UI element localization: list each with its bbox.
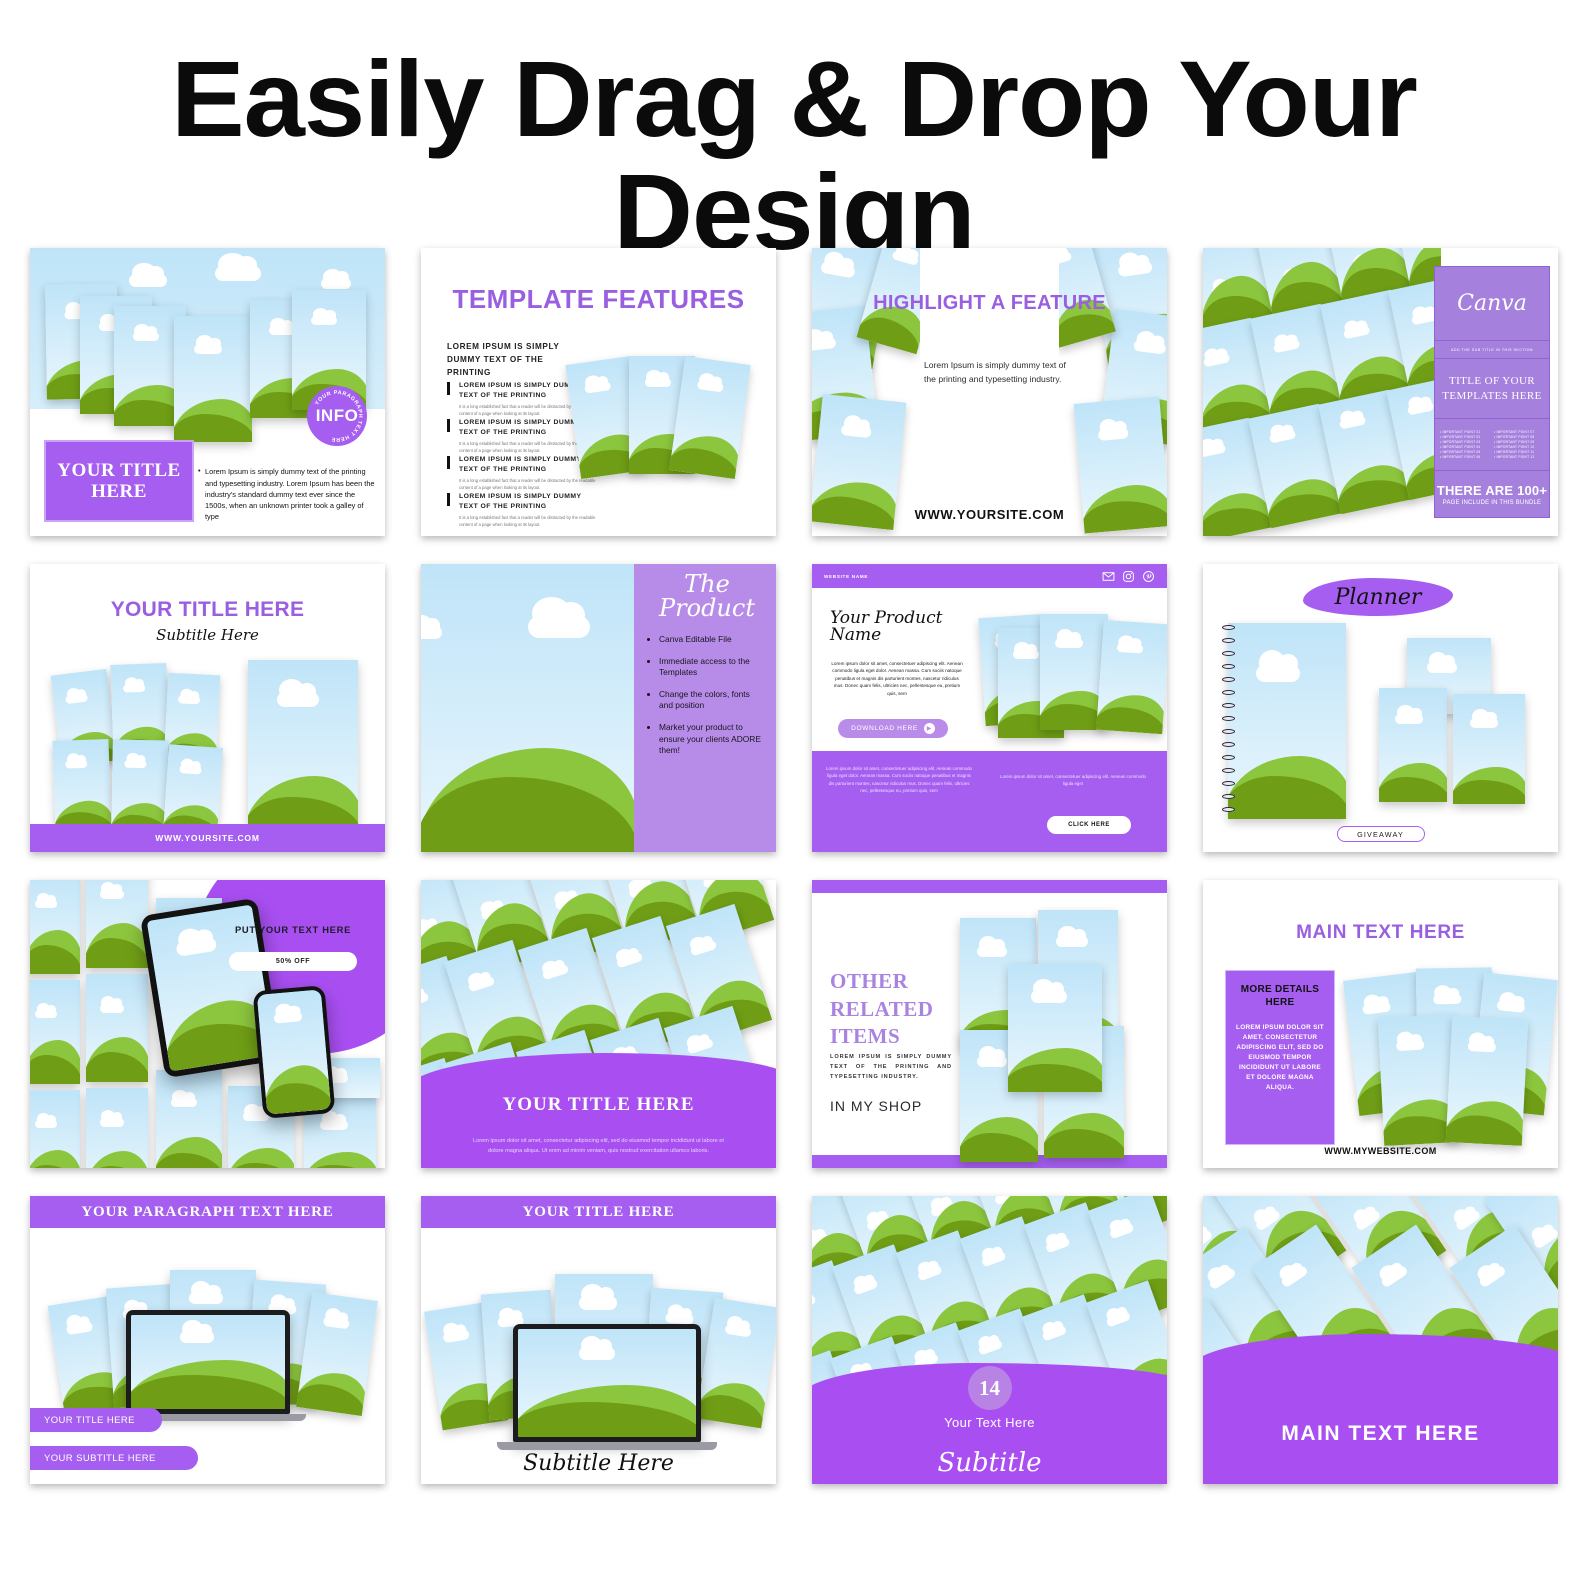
details-body: LOREM IPSUM DOLOR SIT AMET, CONSECTETUR … bbox=[1234, 1023, 1326, 1092]
footer-left-text: Lorem ipsum dolor sit amet, consectetuer… bbox=[826, 765, 972, 795]
details-title: MORE DETAILS HERE bbox=[1234, 983, 1326, 1009]
product-bullets: Canva Editable File Immediate access to … bbox=[648, 634, 766, 756]
planner-heading: Planner bbox=[1303, 578, 1453, 616]
point-item: IMPORTANT POINT 07 bbox=[1494, 430, 1544, 434]
cloud-icon bbox=[129, 274, 167, 287]
card-subtitle: Subtitle bbox=[812, 1448, 1167, 1478]
feature-title: LOREM IPSUM IS SIMPLY DUMMY TEXT OF THE … bbox=[459, 455, 597, 475]
point-item: IMPORTANT POINT 06 bbox=[1440, 455, 1490, 459]
bullet-bar-icon bbox=[447, 419, 450, 432]
points-list: IMPORTANT POINT 01 IMPORTANT POINT 07 IM… bbox=[1435, 419, 1549, 471]
point-item: IMPORTANT POINT 01 bbox=[1440, 430, 1490, 434]
giveaway-label: GIVEAWAY bbox=[1357, 830, 1404, 839]
cloud-icon bbox=[215, 266, 261, 281]
highlight-heading: HIGHLIGHT A FEATURE bbox=[812, 292, 1167, 316]
title-pill-label: YOUR TITLE HERE bbox=[44, 1415, 135, 1426]
footer-right-text: Lorem ipsum dolor sit amet, consectetuer… bbox=[999, 773, 1147, 788]
card-main-text-wave[interactable]: MAIN TEXT HERE bbox=[1203, 1196, 1558, 1484]
card-title: YOUR TITLE HERE bbox=[421, 1094, 776, 1116]
bullet-item: Change the colors, fonts and position bbox=[659, 689, 766, 711]
subtitle-block: ADD THE SUB TITLE IN THIS SECTION bbox=[1435, 341, 1549, 359]
header-label: YOUR TITLE HERE bbox=[523, 1204, 675, 1221]
count-badge: 14 bbox=[968, 1366, 1012, 1410]
features-heading: TEMPLATE FEATURES bbox=[421, 284, 776, 315]
card-planner[interactable]: Planner GIVEAWAY bbox=[1203, 564, 1558, 852]
card-subtitle: Subtitle Here bbox=[30, 626, 385, 644]
product-heading: The Product bbox=[648, 572, 766, 620]
point-item: IMPORTANT POINT 10 bbox=[1494, 445, 1544, 449]
count-label: 14 bbox=[979, 1376, 1000, 1401]
subtitle-pill-label: YOUR SUBTITLE HERE bbox=[44, 1453, 156, 1464]
card-the-product[interactable]: The Product Canva Editable File Immediat… bbox=[421, 564, 776, 852]
offer-label: 50% OFF bbox=[276, 958, 310, 965]
feature-title: LOREM IPSUM IS SIMPLY DUMMY TEXT OF THE … bbox=[459, 492, 597, 512]
offer-pill[interactable]: 50% OFF bbox=[229, 952, 357, 971]
instagram-icon[interactable] bbox=[1122, 570, 1135, 583]
card-main-text-details[interactable]: MAIN TEXT HERE MORE DETAILS HERE LOREM I… bbox=[1203, 880, 1558, 1168]
your-text-label: Your Text Here bbox=[812, 1415, 1167, 1430]
card-template-features[interactable]: TEMPLATE FEATURES LOREM IPSUM IS SIMPLY … bbox=[421, 248, 776, 536]
header-bar: YOUR PARAGRAPH TEXT HERE bbox=[30, 1196, 385, 1228]
laptop-mockup bbox=[513, 1324, 701, 1442]
info-badge[interactable]: YOUR PARAGRAPH TEXT HERE INFO bbox=[307, 386, 367, 446]
website-label: WWW.YOURSITE.COM bbox=[812, 507, 1167, 522]
click-here-label: CLICK HERE bbox=[1068, 822, 1110, 828]
badge-ring-text: YOUR PARAGRAPH TEXT HERE bbox=[307, 386, 367, 446]
phone-mockup bbox=[253, 985, 336, 1119]
brand-label: Canva bbox=[1457, 291, 1527, 316]
website-label: WWW.MYWEBSITE.COM bbox=[1203, 1146, 1558, 1156]
page-title: Easily Drag & Drop Your Design bbox=[0, 42, 1588, 269]
card-highlight-feature[interactable]: HIGHLIGHT A FEATURE Lorem Ipsum is simpl… bbox=[812, 248, 1167, 536]
point-item: IMPORTANT POINT 05 bbox=[1440, 450, 1490, 454]
title-label: TITLE OF YOUR TEMPLATES HERE bbox=[1435, 374, 1549, 403]
card-devices[interactable]: PUT YOUR TEXT HERE 50% OFF bbox=[30, 880, 385, 1168]
point-item: IMPORTANT POINT 08 bbox=[1494, 435, 1544, 439]
svg-text:YOUR PARAGRAPH TEXT HERE: YOUR PARAGRAPH TEXT HERE bbox=[314, 390, 363, 442]
card-title-info[interactable]: YOUR PARAGRAPH TEXT HERE INFO YOUR TITLE… bbox=[30, 248, 385, 536]
cloud-icon bbox=[421, 626, 442, 639]
header-bar: YOUR TITLE HERE bbox=[421, 1196, 776, 1228]
cloud-icon bbox=[321, 278, 351, 289]
card-laptop-title[interactable]: YOUR TITLE HERE Subtitle Here bbox=[421, 1196, 776, 1484]
card-subtitle: Subtitle Here bbox=[421, 1451, 776, 1476]
brand-block: Canva bbox=[1435, 267, 1549, 341]
point-item: IMPORTANT POINT 02 bbox=[1440, 435, 1490, 439]
subtitle-label: ADD THE SUB TITLE IN THIS SECTION bbox=[1451, 348, 1533, 352]
title-box[interactable]: YOUR TITLE HERE bbox=[44, 440, 194, 522]
point-item: IMPORTANT POINT 12 bbox=[1494, 455, 1544, 459]
card-diagonal-title[interactable]: YOUR TITLE HERE Lorem ipsum dolor sit am… bbox=[421, 880, 776, 1168]
bullet-bar-icon bbox=[447, 493, 450, 506]
details-box: MORE DETAILS HERE LOREM IPSUM DOLOR SIT … bbox=[1225, 970, 1335, 1145]
notebook-cover bbox=[1228, 623, 1346, 819]
top-bar bbox=[812, 880, 1167, 893]
bullet-bar-icon bbox=[447, 456, 450, 469]
poster-thumb bbox=[1379, 688, 1447, 802]
count-block: THERE ARE 100+ PAGE INCLUDE IN THIS BUND… bbox=[1435, 471, 1549, 517]
bullet-bar-icon bbox=[447, 382, 450, 395]
poster-thumb bbox=[111, 740, 169, 837]
site-footer: Lorem ipsum dolor sit amet, consectetuer… bbox=[812, 751, 1167, 852]
feature-body: It is a long established fact that a rea… bbox=[459, 515, 597, 528]
header-label: YOUR PARAGRAPH TEXT HERE bbox=[81, 1204, 333, 1221]
card-laptop-paragraph[interactable]: YOUR PARAGRAPH TEXT HERE YOUR TITLE HERE… bbox=[30, 1196, 385, 1484]
download-label: DOWNLOAD HERE bbox=[851, 725, 918, 732]
point-item: IMPORTANT POINT 04 bbox=[1440, 445, 1490, 449]
poster-thumb bbox=[52, 739, 111, 833]
site-name: WEBSITE NAME bbox=[824, 574, 868, 579]
card-other-related-items[interactable]: OTHER RELATED ITEMS LOREM IPSUM IS SIMPL… bbox=[812, 880, 1167, 1168]
card-title: MAIN TEXT HERE bbox=[1203, 922, 1558, 944]
download-button[interactable]: DOWNLOAD HERE ▶ bbox=[838, 719, 948, 738]
put-text-label: PUT YOUR TEXT HERE bbox=[213, 924, 373, 935]
poster-thumb bbox=[1096, 620, 1167, 734]
mail-icon[interactable] bbox=[1102, 570, 1115, 583]
poster-thumb-large bbox=[248, 660, 358, 835]
laptop-screen bbox=[518, 1329, 696, 1437]
laptop-base bbox=[497, 1442, 717, 1450]
card-title-subtitle[interactable]: YOUR TITLE HERE Subtitle Here WWW.YOURSI… bbox=[30, 564, 385, 852]
laptop-screen bbox=[131, 1315, 285, 1409]
product-name: Your Product Name bbox=[830, 610, 970, 644]
title-box-label: YOUR TITLE HERE bbox=[46, 460, 192, 503]
feature-item: LOREM IPSUM IS SIMPLY DUMMY TEXT OF THE … bbox=[447, 455, 597, 491]
bullet-item: Immediate access to the Templates bbox=[659, 656, 766, 678]
product-body: Lorem ipsum dolor sit amet, consectetuer… bbox=[830, 660, 964, 697]
point-item: IMPORTANT POINT 11 bbox=[1494, 450, 1544, 454]
subtitle-pill[interactable]: YOUR SUBTITLE HERE bbox=[30, 1446, 198, 1470]
body-text: Lorem Ipsum is simply dummy text of the … bbox=[205, 466, 375, 522]
card-website-mockup[interactable]: WEBSITE NAME Your Product Name Lorem ips… bbox=[812, 564, 1167, 852]
features-subheading: LOREM IPSUM IS SIMPLY DUMMY TEXT OF THE … bbox=[447, 340, 577, 379]
site-header-bar: WEBSITE NAME bbox=[812, 564, 1167, 588]
social-icons[interactable] bbox=[1102, 570, 1155, 583]
template-grid: YOUR PARAGRAPH TEXT HERE INFO YOUR TITLE… bbox=[30, 248, 1558, 1558]
bullet-item: Market your product to ensure your clien… bbox=[659, 722, 766, 755]
title-pill[interactable]: YOUR TITLE HERE bbox=[30, 1408, 162, 1432]
point-item: IMPORTANT POINT 03 bbox=[1440, 440, 1490, 444]
purple-wave bbox=[1203, 1334, 1558, 1484]
card-body: LOREM IPSUM IS SIMPLY DUMMY TEXT OF THE … bbox=[830, 1052, 952, 1082]
card-count-subtitle[interactable]: 14 Your Text Here Subtitle bbox=[812, 1196, 1167, 1484]
play-icon: ▶ bbox=[924, 723, 935, 734]
brush-stroke: Planner bbox=[1303, 578, 1453, 616]
sky-hill-scene bbox=[421, 564, 634, 852]
poster-thumb bbox=[1453, 694, 1525, 804]
card-title: MAIN TEXT HERE bbox=[1203, 1422, 1558, 1446]
title-block: TITLE OF YOUR TEMPLATES HERE bbox=[1435, 359, 1549, 419]
feature-body: It is a long established fact that a rea… bbox=[459, 478, 597, 491]
card-canva-bundle[interactable]: Canva ADD THE SUB TITLE IN THIS SECTION … bbox=[1203, 248, 1558, 536]
footer-bar: WWW.YOURSITE.COM bbox=[30, 824, 385, 852]
point-item: IMPORTANT POINT 09 bbox=[1494, 440, 1544, 444]
poster-grid bbox=[1203, 248, 1441, 536]
phone-screen bbox=[257, 989, 331, 1114]
pinterest-icon[interactable] bbox=[1142, 570, 1155, 583]
card-body: Lorem ipsum dolor sit amet, consectetur … bbox=[465, 1136, 732, 1156]
feature-item: LOREM IPSUM IS SIMPLY DUMMY TEXT OF THE … bbox=[447, 492, 597, 528]
card-title: OTHER RELATED ITEMS bbox=[830, 968, 960, 1051]
poster-thumb bbox=[174, 316, 252, 442]
bundle-sidebar: Canva ADD THE SUB TITLE IN THIS SECTION … bbox=[1434, 266, 1550, 518]
shop-label: IN MY SHOP bbox=[830, 1098, 922, 1114]
bullet-item: Canva Editable File bbox=[659, 634, 766, 645]
highlight-body: Lorem Ipsum is simply dummy text of the … bbox=[924, 358, 1074, 386]
spiral-binding-icon bbox=[1222, 623, 1235, 819]
count-big: THERE ARE 100+ bbox=[1437, 483, 1547, 498]
website-label: WWW.YOURSITE.COM bbox=[155, 833, 259, 843]
giveaway-pill[interactable]: GIVEAWAY bbox=[1337, 826, 1425, 842]
count-small: PAGE INCLUDE IN THIS BUNDLE bbox=[1443, 500, 1542, 506]
cloud-icon bbox=[528, 616, 590, 638]
poster-page: Easily Drag & Drop Your Design bbox=[0, 0, 1588, 1588]
card-title: YOUR TITLE HERE bbox=[30, 598, 385, 622]
click-here-button[interactable]: CLICK HERE bbox=[1047, 816, 1131, 834]
badge-ring-label: YOUR PARAGRAPH TEXT HERE bbox=[314, 390, 363, 442]
product-panel: The Product Canva Editable File Immediat… bbox=[634, 564, 776, 852]
laptop-mockup bbox=[126, 1310, 290, 1414]
